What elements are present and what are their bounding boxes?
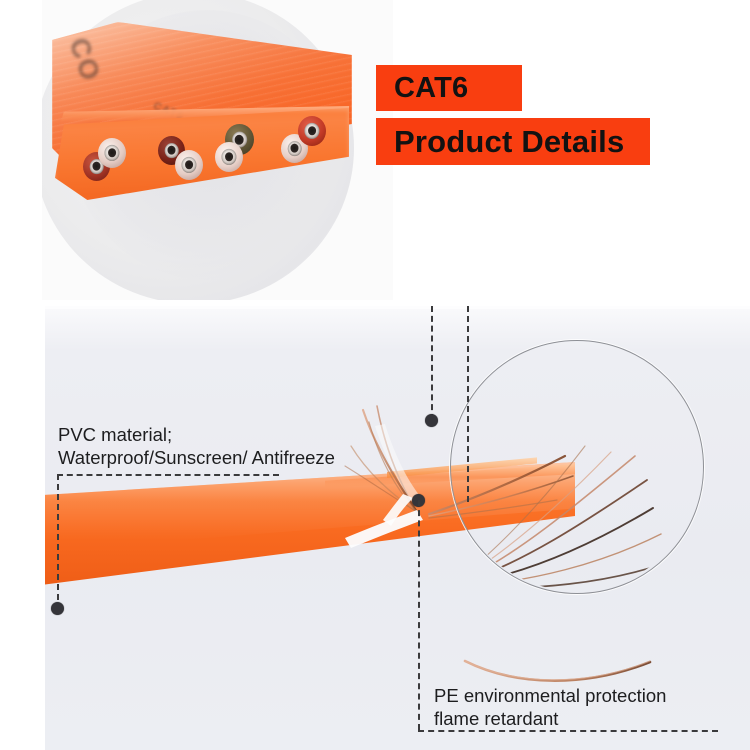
top-photo-panel: CO CAT6 <box>42 0 393 300</box>
conductor-core <box>181 157 196 173</box>
callout-pe: PE environmental protection flame retard… <box>434 684 666 730</box>
callout-pvc: PVC material; Waterproof/Sunscreen/ Anti… <box>58 423 335 469</box>
flat-cable-cross-section: CO CAT6 <box>52 22 352 217</box>
conductor-8 <box>298 116 326 146</box>
callout-pvc-marker <box>51 602 64 615</box>
callout-pe-underline <box>418 730 718 732</box>
callout-pvc-underline <box>57 474 279 476</box>
banner-product-details: Product Details <box>376 118 650 165</box>
conductor-2 <box>98 138 126 168</box>
magnifier-circle <box>450 340 704 594</box>
conductor-core <box>221 149 236 165</box>
conductor-core <box>287 141 302 157</box>
callout-pvc-line1: PVC material; <box>58 423 335 446</box>
conductor-4 <box>175 150 203 180</box>
callout-copper-marker <box>425 414 438 427</box>
callout-pe-leader-lower <box>418 500 420 730</box>
conductor-core <box>304 123 319 139</box>
callout-pvc-leader <box>57 474 59 610</box>
callout-pe-leader-upper <box>467 306 469 502</box>
banner-product-details-label: Product Details <box>394 124 624 160</box>
callout-pe-line1: PE environmental protection <box>434 684 666 707</box>
banner-cat6: CAT6 <box>376 65 522 111</box>
callout-copper-leader <box>431 306 433 420</box>
conductor-core <box>104 145 119 161</box>
callout-pe-line2: flame retardant <box>434 707 666 730</box>
conductor-6 <box>215 142 243 172</box>
banner-cat6-label: CAT6 <box>394 72 468 105</box>
loose-copper-strand <box>465 661 650 681</box>
callout-pvc-line2: Waterproof/Sunscreen/ Antifreeze <box>58 446 335 469</box>
product-detail-image: CO CAT6 <box>0 0 750 750</box>
